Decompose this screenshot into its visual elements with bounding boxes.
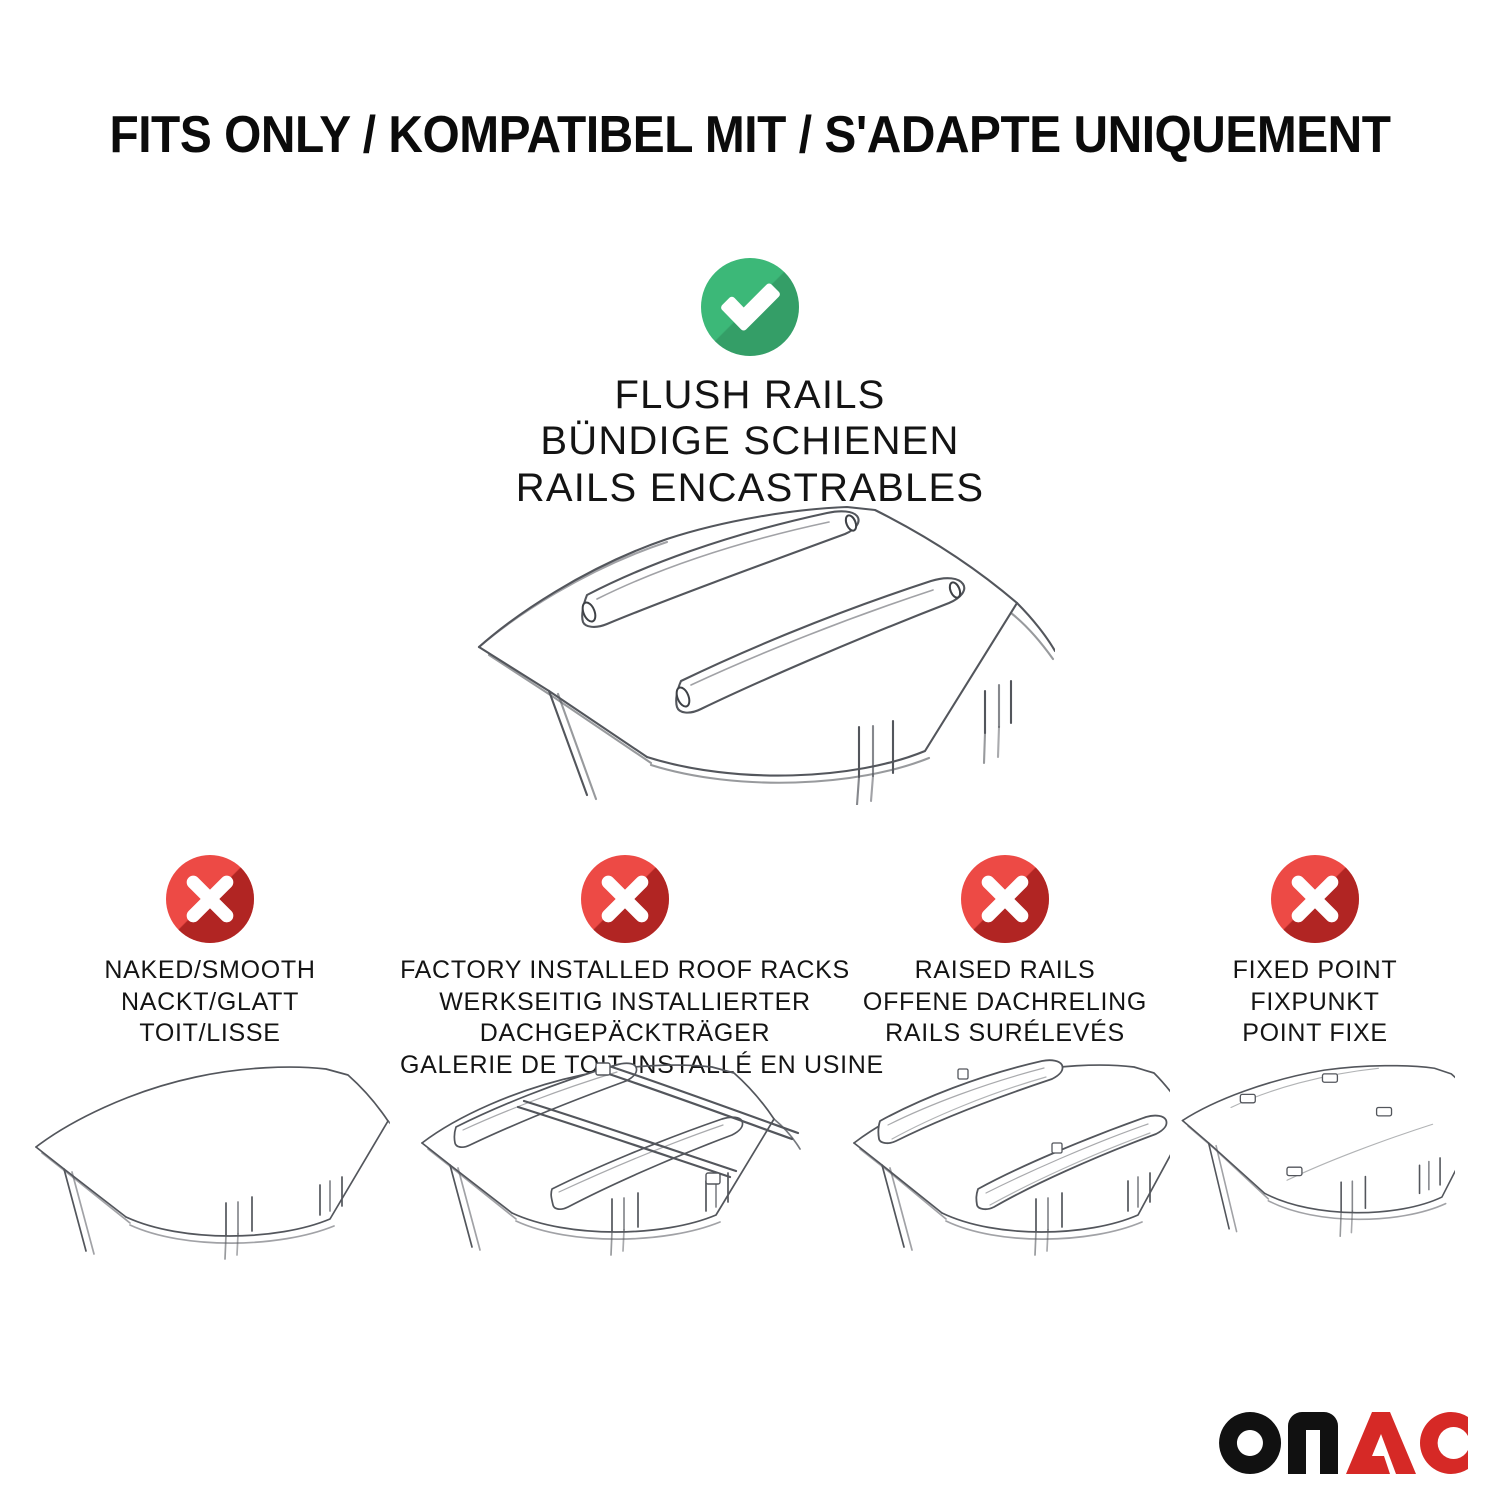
green-check-icon (701, 258, 799, 356)
car-roof-with-crossbars-illustration (400, 1055, 850, 1285)
incompatible-labels: RAISED RAILS OFFENE DACHRELING RAILS SUR… (840, 955, 1170, 1050)
label-line-1: NAKED/SMOOTH (30, 955, 390, 987)
compatible-section: FLUSH RAILS BÜNDIGE SCHIENEN RAILS ENCAS… (0, 258, 1500, 511)
label-line-3: TOIT/LISSE (30, 1018, 390, 1050)
label-line-3: POINT FIXE (1175, 1018, 1455, 1050)
label-line-3: RAILS SURÉLEVÉS (840, 1018, 1170, 1050)
x-glyph (581, 855, 669, 943)
x-glyph (961, 855, 1049, 943)
incompatible-item-naked-smooth: NAKED/SMOOTH NACKT/GLATT TOIT/LISSE (30, 855, 390, 1050)
car-roof-naked-illustration (30, 1055, 390, 1285)
incompatible-labels: FIXED POINT FIXPUNKT POINT FIXE (1175, 955, 1455, 1050)
red-x-icon (166, 855, 254, 943)
incompatible-item-fixed-point: FIXED POINT FIXPUNKT POINT FIXE (1175, 855, 1455, 1050)
label-line-2: WERKSEITIG INSTALLIERTER (400, 987, 850, 1019)
incompatible-item-raised-rails: RAISED RAILS OFFENE DACHRELING RAILS SUR… (840, 855, 1170, 1050)
label-line-2: FIXPUNKT (1175, 987, 1455, 1019)
label-line-2: NACKT/GLATT (30, 987, 390, 1019)
compatible-labels: FLUSH RAILS BÜNDIGE SCHIENEN RAILS ENCAS… (0, 372, 1500, 511)
omac-logo (1218, 1404, 1468, 1482)
incompatible-section: NAKED/SMOOTH NACKT/GLATT TOIT/LISSE (0, 855, 1500, 1285)
label-line-1: RAISED RAILS (840, 955, 1170, 987)
incompatible-labels: NAKED/SMOOTH NACKT/GLATT TOIT/LISSE (30, 955, 390, 1050)
red-x-icon (961, 855, 1049, 943)
x-glyph (166, 855, 254, 943)
label-line-1: FACTORY INSTALLED ROOF RACKS (400, 955, 850, 987)
compatible-label-de: BÜNDIGE SCHIENEN (0, 418, 1500, 464)
compatibility-infographic: FITS ONLY / KOMPATIBEL MIT / S'ADAPTE UN… (0, 0, 1500, 1500)
check-glyph (701, 258, 799, 356)
incompatible-item-factory-roof-racks: FACTORY INSTALLED ROOF RACKS WERKSEITIG … (400, 855, 850, 1081)
red-x-icon (581, 855, 669, 943)
compatible-label-en: FLUSH RAILS (0, 372, 1500, 418)
page-title: FITS ONLY / KOMPATIBEL MIT / S'ADAPTE UN… (60, 105, 1440, 165)
label-line-1: FIXED POINT (1175, 955, 1455, 987)
car-roof-with-raised-rails-illustration (840, 1055, 1170, 1285)
car-roof-with-flush-rails-illustration (455, 495, 1055, 805)
x-glyph (1271, 855, 1359, 943)
red-x-icon (1271, 855, 1359, 943)
label-line-3: DACHGEPÄCKTRÄGER (400, 1018, 850, 1050)
label-line-2: OFFENE DACHRELING (840, 987, 1170, 1019)
car-roof-with-fixed-points-illustration (1175, 1055, 1455, 1285)
